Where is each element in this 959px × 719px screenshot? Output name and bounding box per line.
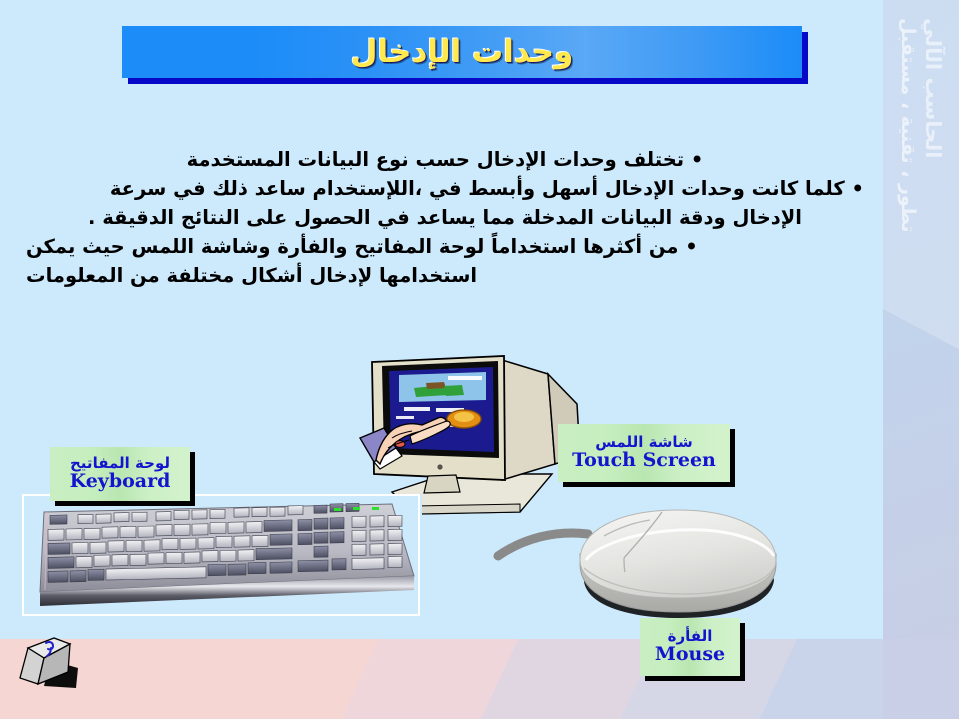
caption-mouse-box: الفأرة Mouse [640, 618, 740, 676]
caption-touchscreen: شاشة اللمس Touch Screen [558, 424, 730, 482]
caption-keyboard-box: لوحة المفاتيح Keyboard [50, 447, 190, 501]
right-sidebar-highlight [883, 0, 959, 719]
bullet-item-1: • تختلف وحدات الإدخال حسب نوع البيانات ا… [26, 146, 864, 174]
caption-touchscreen-english: Touch Screen [572, 451, 716, 471]
bottom-right-corner [883, 639, 959, 719]
title-banner: وحدات الإدخال [122, 26, 802, 78]
caption-mouse: الفأرة Mouse [640, 618, 740, 676]
body-text-block: • تختلف وحدات الإدخال حسب نوع البيانات ا… [26, 146, 864, 291]
caption-keyboard-arabic: لوحة المفاتيح [70, 456, 170, 472]
title-banner-fill: وحدات الإدخال [122, 26, 802, 78]
keyboard-illustration [22, 494, 422, 619]
caption-mouse-english: Mouse [655, 645, 725, 665]
page-title: وحدات الإدخال [351, 34, 574, 70]
bullet-item-2-line-2: الإدخال ودقة البيانات المدخلة مما يساعد … [26, 204, 864, 232]
bottom-band [0, 639, 959, 719]
mouse-illustration [484, 498, 804, 638]
caption-touchscreen-arabic: شاشة اللمس [595, 435, 693, 451]
bullet-item-3-line-1: • من أكثرها استخداماً لوحة المفاتيح والف… [26, 233, 864, 261]
caption-keyboard-english: Keyboard [70, 472, 171, 492]
caption-touchscreen-box: شاشة اللمس Touch Screen [558, 424, 730, 482]
caption-mouse-arabic: الفأرة [668, 629, 713, 645]
bullet-item-3-line-2: استخدامها لإدخال أشكال مختلفة من المعلوم… [26, 262, 864, 290]
caption-keyboard: لوحة المفاتيح Keyboard [50, 447, 190, 501]
bullet-item-2-line-1: • كلما كانت وحدات الإدخال أسهل وأبسط في … [26, 175, 864, 203]
single-keycap-illustration [14, 630, 109, 700]
slide-canvas: الحاسب الآلي تطور ، تقنية ، مستقبل وحدات… [0, 0, 959, 719]
